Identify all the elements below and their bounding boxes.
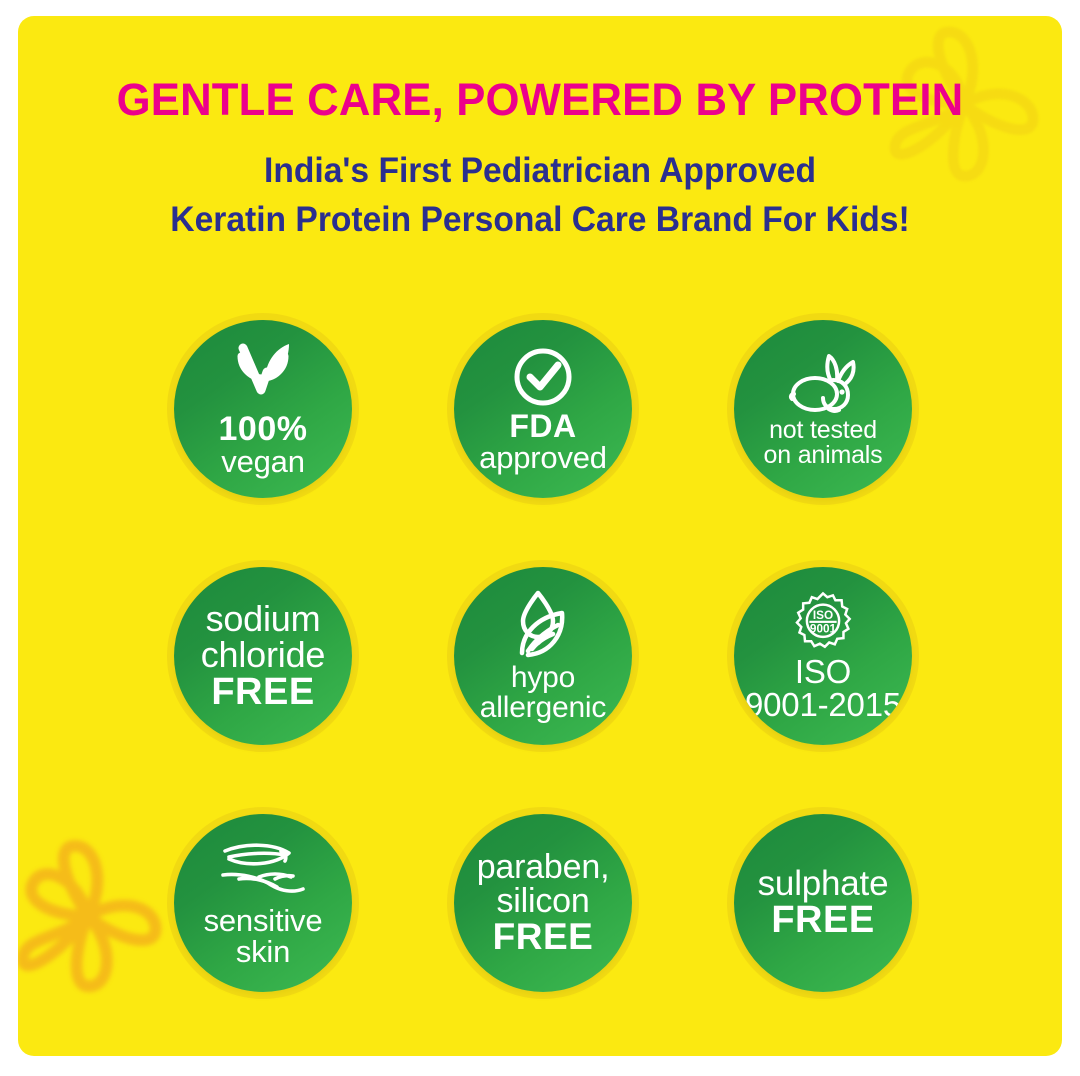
badge-label-line: allergenic (480, 693, 606, 723)
rabbit-icon (785, 350, 861, 416)
badge-fda-approved[interactable]: FDA approved (454, 320, 632, 498)
badge-label-line: on animals (764, 443, 883, 468)
badge-label-line: vegan (219, 446, 308, 477)
badge-label-line: paraben, (477, 850, 610, 884)
badge-label-line: approved (479, 442, 607, 473)
seal-text-top: ISO (813, 609, 833, 622)
badge-label-line: sodium (201, 601, 325, 637)
badge-label: sodium chloride FREE (201, 601, 325, 711)
badge-label-line: 9001-2015 (745, 688, 901, 721)
badge-label: hypo allergenic (480, 663, 606, 723)
page-title: GENTLE CARE, POWERED BY PROTEIN (34, 74, 1047, 126)
seal-text-bottom: 9001 (810, 623, 837, 636)
badge-paraben-silicon-free[interactable]: paraben, silicon FREE (454, 814, 632, 992)
badge-label-line: silicon (477, 884, 610, 918)
badge-label: sensitive skin (204, 905, 323, 967)
droplet-leaf-icon (508, 589, 578, 661)
badge-label-line: FREE (201, 673, 325, 711)
iso-9001-seal-icon: ISO 9001 (792, 591, 854, 653)
badge-hypo-allergenic[interactable]: hypo allergenic (454, 567, 632, 745)
check-circle-icon (512, 346, 574, 408)
hand-holding-leaf-icon (219, 839, 307, 903)
page-subtitle: India's First Pediatrician Approved Kera… (39, 146, 1041, 244)
badge-label-line: chloride (201, 637, 325, 673)
badge-label: ISO 9001-2015 (745, 655, 901, 721)
badge-label-line: FREE (477, 918, 610, 955)
badge-label: 100% vegan (219, 412, 308, 477)
badge-label: paraben, silicon FREE (477, 850, 610, 955)
badge-label-line: 100% (219, 412, 308, 446)
promo-card: GENTLE CARE, POWERED BY PROTEIN India's … (18, 16, 1062, 1056)
badge-label-line: FDA (479, 410, 607, 442)
badge-label-line: sulphate (758, 866, 889, 901)
badge-sulphate-free[interactable]: sulphate FREE (734, 814, 912, 992)
badge-label-line: FREE (758, 901, 889, 939)
badge-sensitive-skin[interactable]: sensitive skin (174, 814, 352, 992)
badge-label-line: ISO (745, 655, 901, 688)
badge-label-line: skin (204, 936, 323, 967)
badge-label-line: hypo (480, 663, 606, 693)
badge-label: FDA approved (479, 410, 607, 473)
vegan-leaf-check-icon (227, 342, 299, 410)
badge-sodium-chloride-free[interactable]: sodium chloride FREE (174, 567, 352, 745)
badge-grid: 100% vegan FDA approved (123, 286, 963, 1026)
badge-iso-9001-2015[interactable]: ISO 9001 ISO 9001-2015 (734, 567, 912, 745)
badge-label: not tested on animals (764, 418, 883, 468)
badge-label-line: sensitive (204, 905, 323, 936)
subtitle-line: Keratin Protein Personal Care Brand For … (39, 195, 1041, 244)
badge-label: sulphate FREE (758, 866, 889, 939)
badge-100-percent-vegan[interactable]: 100% vegan (174, 320, 352, 498)
subtitle-line: India's First Pediatrician Approved (39, 146, 1041, 195)
badge-label-line: not tested (764, 418, 883, 443)
badge-not-tested-on-animals[interactable]: not tested on animals (734, 320, 912, 498)
